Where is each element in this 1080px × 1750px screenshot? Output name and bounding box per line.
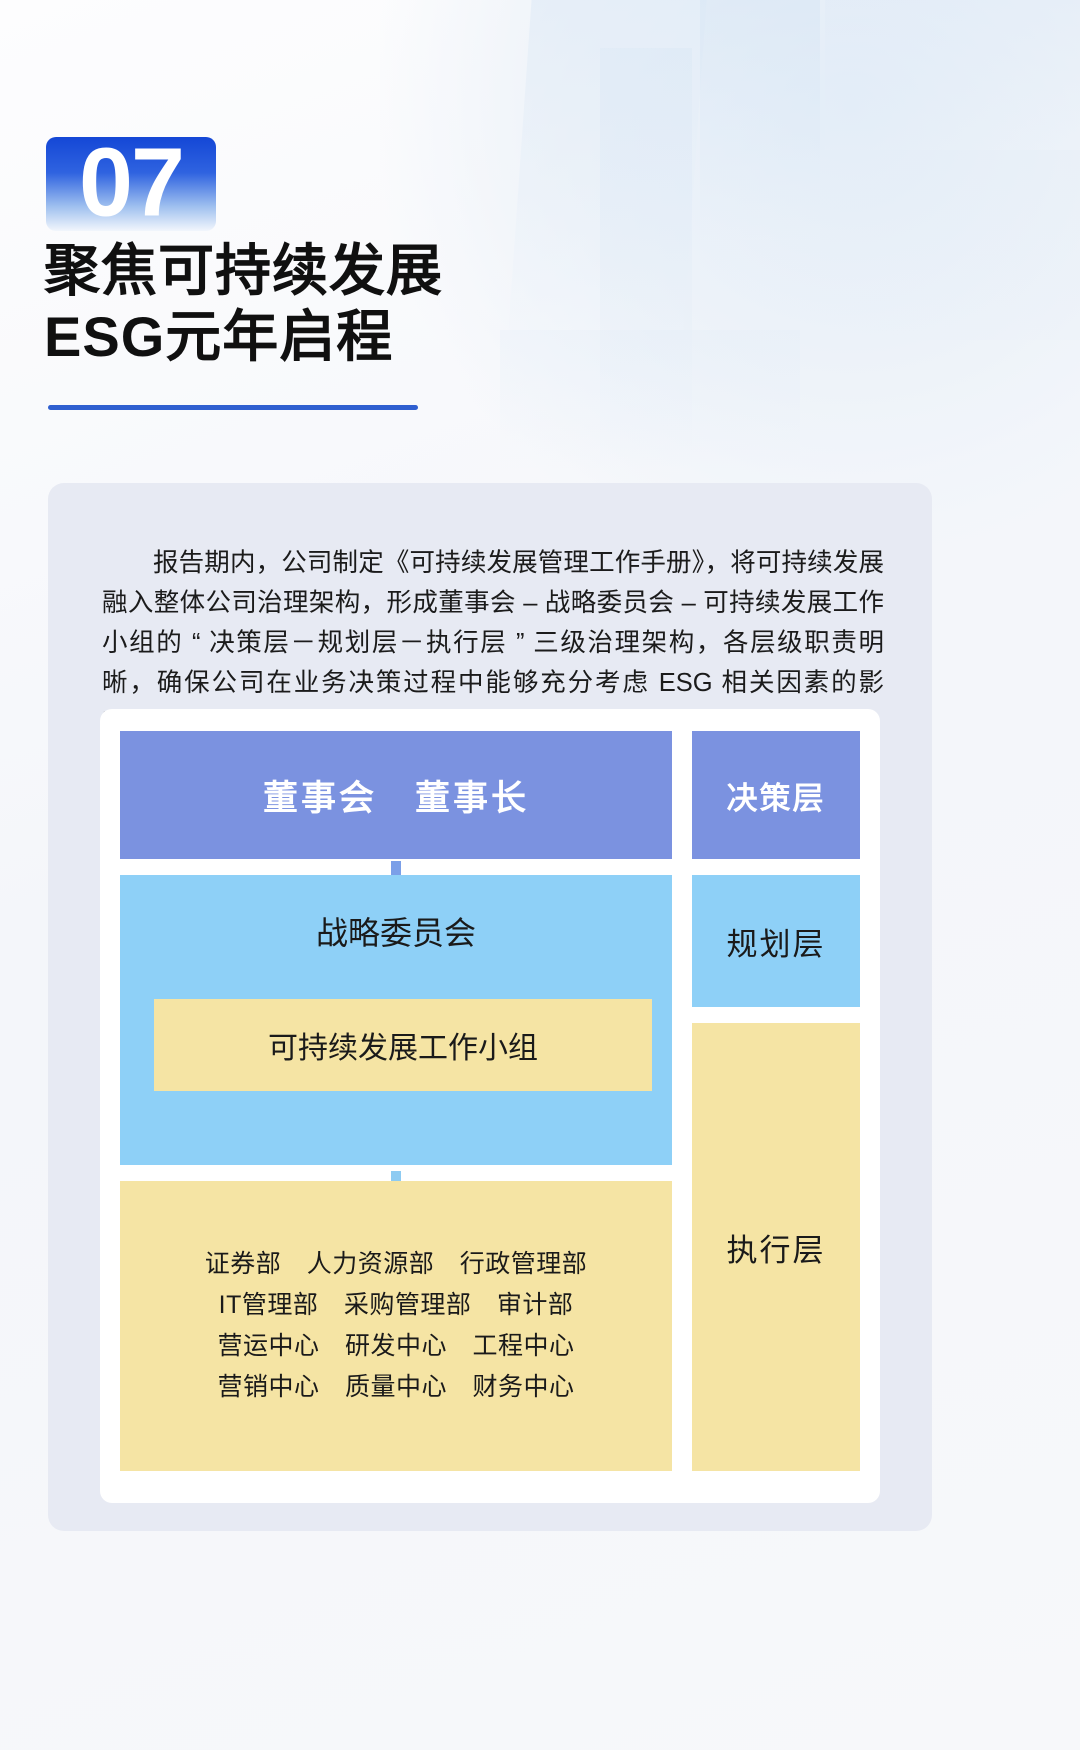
title-underline bbox=[48, 405, 418, 410]
diagram-node-work-group: 可持续发展工作小组 bbox=[154, 999, 652, 1091]
background-panel-3 bbox=[825, 0, 1080, 150]
section-number: 07 bbox=[79, 137, 183, 231]
background-panel-4 bbox=[700, 150, 1080, 340]
department-line: IT管理部 采购管理部 审计部 bbox=[219, 1285, 574, 1326]
department-line: 证券部 人力资源部 行政管理部 bbox=[205, 1244, 588, 1285]
diagram-node-board: 董事会 董事长 bbox=[120, 731, 672, 859]
diagram-node-strategy-committee-label: 战略委员会 bbox=[120, 875, 672, 987]
page-title: 聚焦可持续发展 ESG元年启程 bbox=[44, 238, 443, 370]
governance-diagram: 董事会 董事长 战略委员会 可持续发展工作小组 证券部 人力资源部 行政管理部 … bbox=[100, 709, 880, 1503]
background-panel-6 bbox=[500, 330, 800, 470]
content-card: 报告期内，公司制定《可持续发展管理工作手册》，将可持续发展融入整体公司治理架构，… bbox=[48, 483, 932, 1531]
diagram-node-departments: 证券部 人力资源部 行政管理部 IT管理部 采购管理部 审计部 营运中心 研发中… bbox=[120, 1181, 672, 1471]
diagram-node-strategy-committee: 战略委员会 可持续发展工作小组 bbox=[120, 875, 672, 1165]
diagram-layer-decision: 决策层 bbox=[692, 731, 860, 859]
department-line: 营运中心 研发中心 工程中心 bbox=[217, 1326, 574, 1367]
diagram-layer-planning: 规划层 bbox=[692, 875, 860, 1007]
section-number-badge: 07 bbox=[46, 137, 216, 231]
diagram-layer-execution: 执行层 bbox=[692, 1023, 860, 1471]
department-line: 营销中心 质量中心 财务中心 bbox=[217, 1367, 574, 1408]
